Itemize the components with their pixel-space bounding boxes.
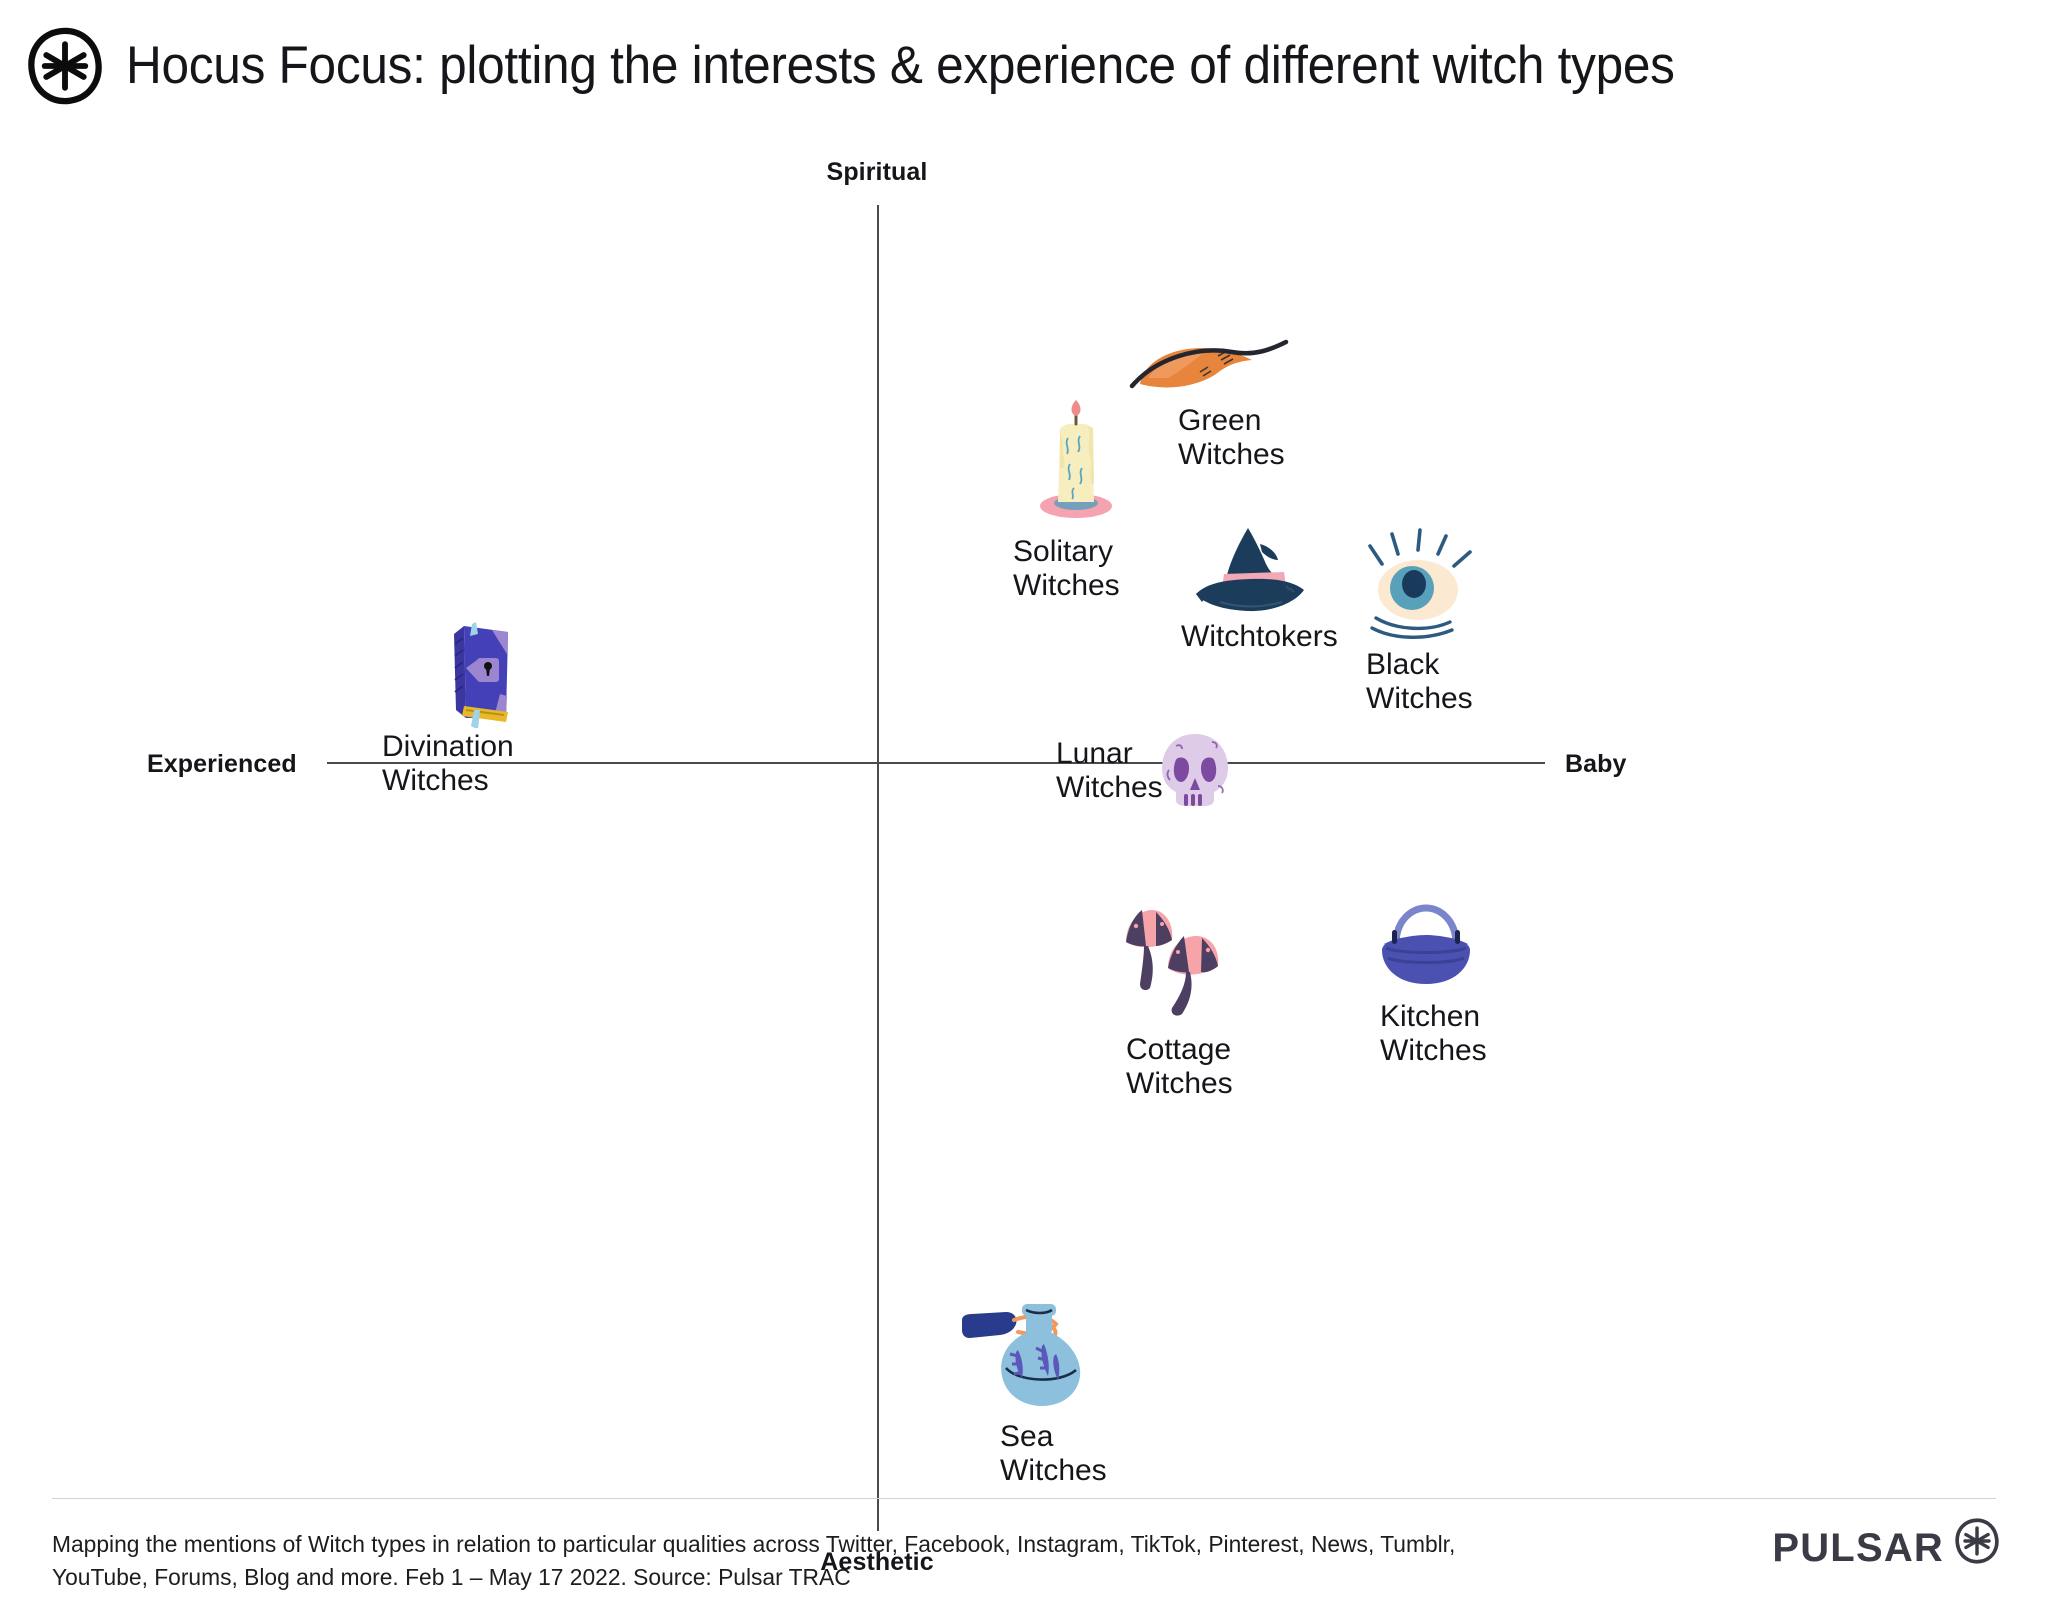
data-point-label: Black Witches — [1366, 648, 1473, 716]
page-title: Hocus Focus: plotting the interests & ex… — [126, 35, 1675, 96]
potion-bottle-icon — [956, 1302, 1106, 1412]
feather-icon — [1128, 338, 1298, 404]
page-footer: Mapping the mentions of Witch types in r… — [0, 1460, 2048, 1624]
candle-icon — [1030, 398, 1122, 522]
pulsar-logo-text: PULSAR — [1772, 1526, 1944, 1571]
spellbook-icon — [434, 622, 520, 728]
data-point-label: Lunar Witches — [1056, 737, 1163, 805]
witch-hat-icon — [1190, 524, 1312, 616]
eye-icon — [1366, 528, 1482, 646]
data-point-label: Divination Witches — [382, 730, 514, 798]
pulsar-logo[interactable]: PULSAR — [1772, 1518, 2000, 1578]
footer-divider — [52, 1498, 1996, 1499]
cauldron-icon — [1374, 902, 1478, 994]
pulsar-starburst-icon — [1954, 1518, 2000, 1564]
chart-page: Hocus Focus: plotting the interests & ex… — [0, 0, 2048, 1624]
data-point-label: Solitary Witches — [1013, 535, 1120, 603]
mushrooms-icon — [1112, 902, 1232, 1020]
data-point-label: Green Witches — [1178, 404, 1285, 472]
data-point-label: Kitchen Witches — [1380, 1000, 1487, 1068]
quadrant-chart: Spiritual Aesthetic Experienced Baby — [0, 130, 2048, 1460]
data-point-label: Cottage Witches — [1126, 1033, 1233, 1101]
footer-source-note: Mapping the mentions of Witch types in r… — [52, 1528, 1507, 1595]
page-header: Hocus Focus: plotting the interests & ex… — [0, 0, 2048, 130]
axis-label-spiritual: Spiritual — [827, 158, 928, 187]
axis-label-baby: Baby — [1565, 750, 1627, 779]
data-point-label: Witchtokers — [1181, 620, 1338, 654]
axis-label-experienced: Experienced — [147, 750, 297, 779]
y-axis-line — [877, 205, 879, 1531]
pulsar-starburst-icon — [26, 27, 104, 105]
skull-icon — [1156, 730, 1234, 812]
